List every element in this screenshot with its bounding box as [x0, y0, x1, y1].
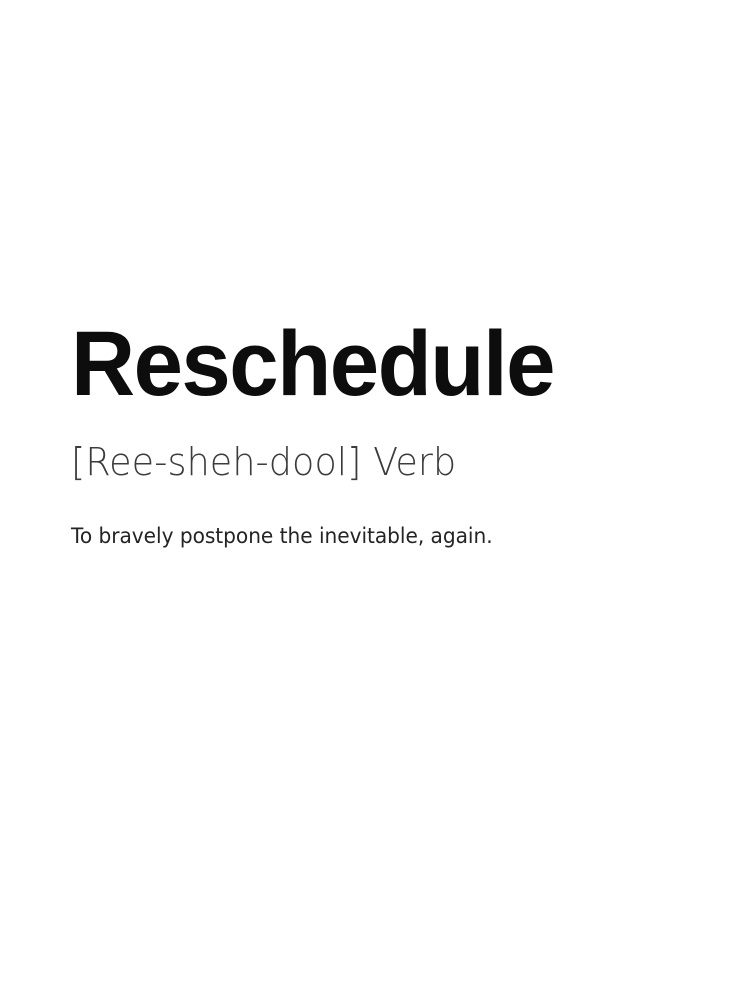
pronunciation-and-part-of-speech: [Ree-sheh-dool] Verb — [71, 410, 683, 481]
definition-poster: Reschedule [Ree-sheh-dool] Verb To brave… — [0, 0, 748, 997]
definition-text: To bravely postpone the inevitable, agai… — [71, 481, 683, 549]
definition-entry: Reschedule [Ree-sheh-dool] Verb To brave… — [71, 318, 708, 549]
headword-title: Reschedule — [71, 318, 686, 410]
